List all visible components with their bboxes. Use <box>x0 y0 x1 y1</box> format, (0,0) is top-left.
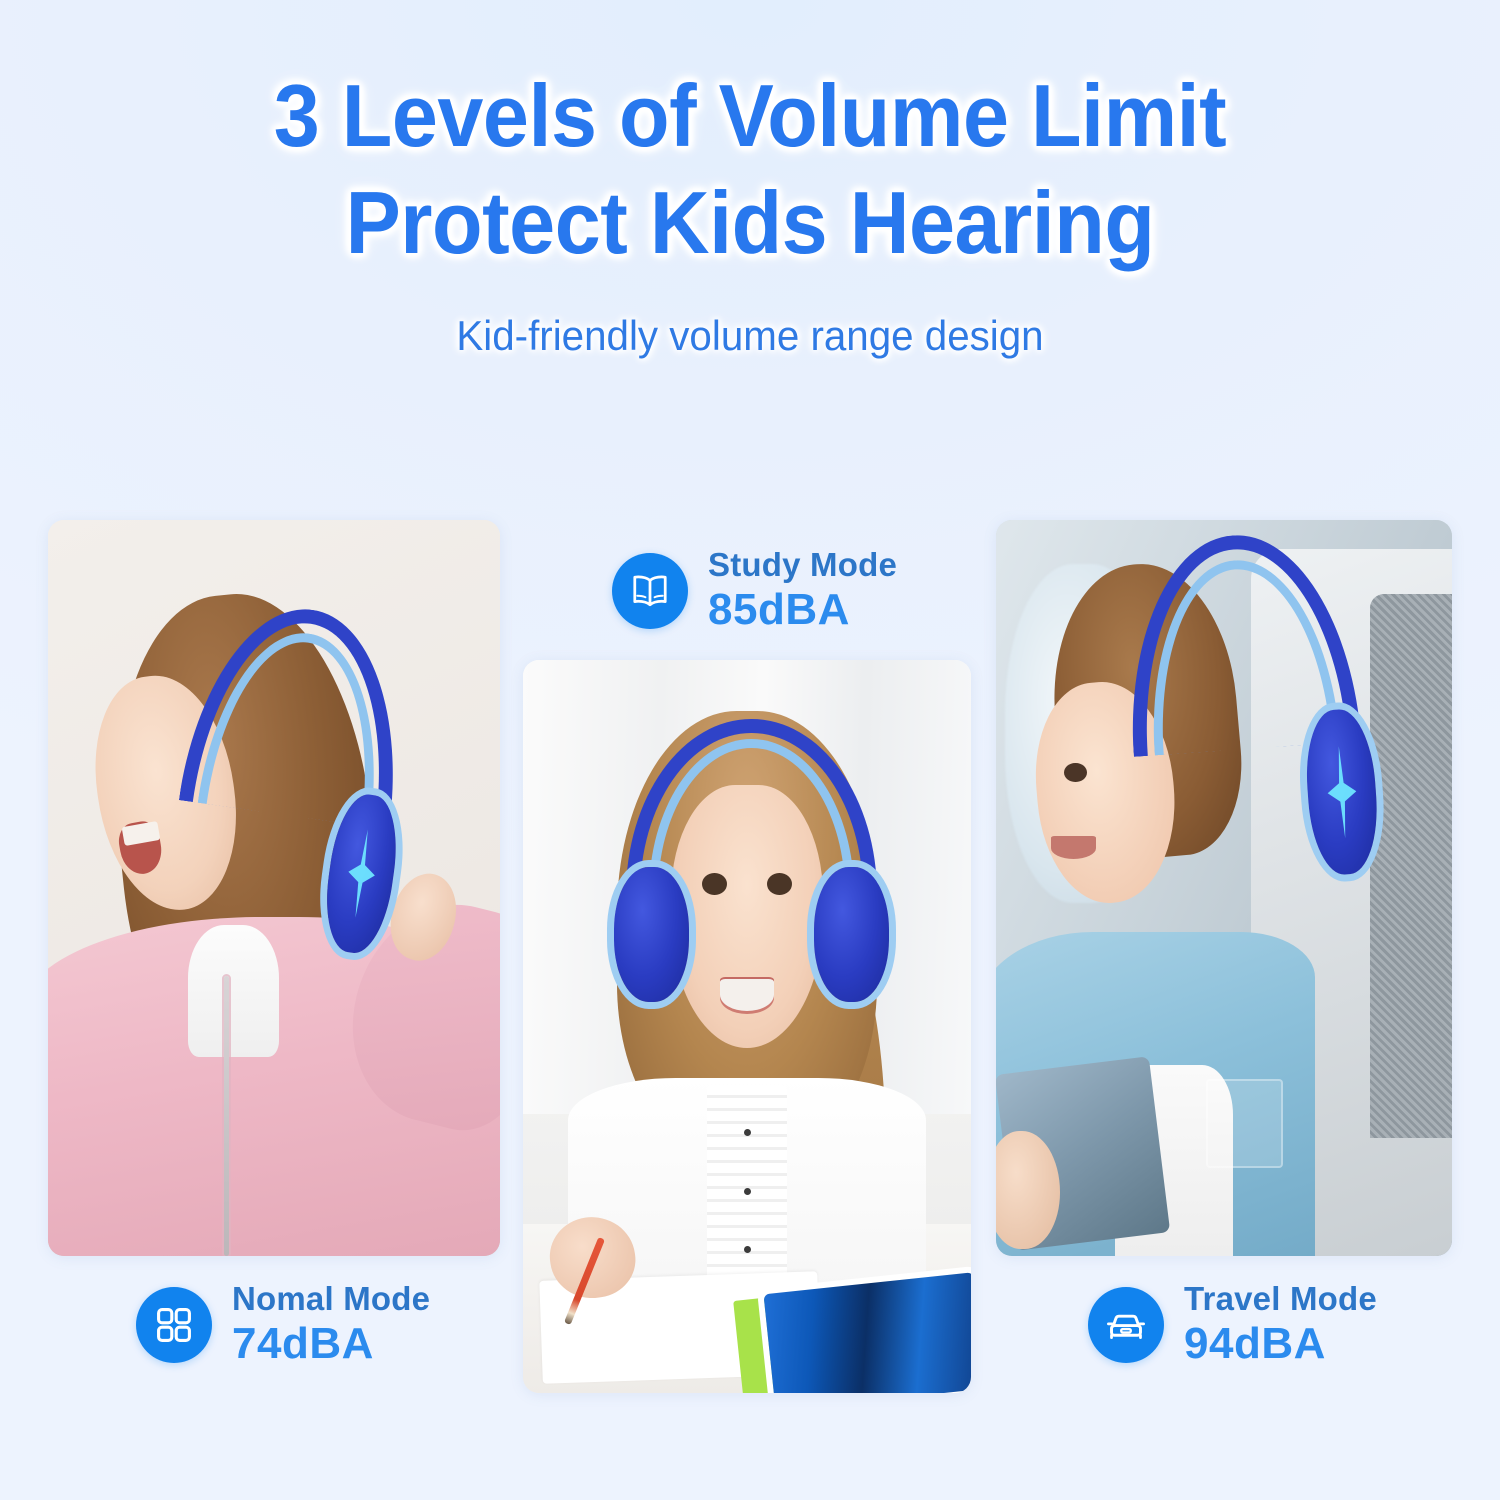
badge-icon-circle <box>1088 1287 1164 1363</box>
ear-cup-left <box>614 867 689 1002</box>
glowing-star-icon <box>342 828 381 920</box>
open-book-icon <box>628 569 672 613</box>
headphones <box>1119 527 1375 954</box>
ear-cup-right <box>814 867 889 1002</box>
button <box>744 1188 751 1195</box>
badge-travel-mode: Travel Mode 94dBA <box>1088 1282 1377 1368</box>
scene-right <box>996 520 1452 1256</box>
car-icon <box>1104 1303 1148 1347</box>
badge-study-mode: Study Mode 85dBA <box>612 548 897 634</box>
mode-label: Study Mode <box>708 548 897 583</box>
smile <box>1051 836 1097 858</box>
scene-left <box>48 520 500 1256</box>
headline-line-2: Protect Kids Hearing <box>45 169 1455 276</box>
scene-center <box>523 660 971 1393</box>
glowing-star-icon <box>1324 745 1359 839</box>
mode-value: 94dBA <box>1184 1321 1377 1368</box>
badge-icon-circle <box>612 553 688 629</box>
badge-texts: Nomal Mode 74dBA <box>232 1282 430 1368</box>
badge-icon-circle <box>136 1287 212 1363</box>
badge-texts: Study Mode 85dBA <box>708 548 897 634</box>
subtitle: Kid-friendly volume range design <box>30 312 1470 360</box>
mode-value: 74dBA <box>232 1321 430 1368</box>
headphones <box>626 719 877 1056</box>
grid-squares-icon <box>152 1303 196 1347</box>
mode-label: Nomal Mode <box>232 1282 430 1317</box>
blue-book <box>764 1272 971 1393</box>
eye <box>1064 763 1087 782</box>
badge-texts: Travel Mode 94dBA <box>1184 1282 1377 1368</box>
hoodie-zipper <box>224 976 229 1256</box>
photo-travel-mode <box>996 520 1452 1256</box>
headline-line-1: 3 Levels of Volume Limit <box>45 62 1455 169</box>
button <box>744 1129 751 1136</box>
marketing-banner: 3 Levels of Volume Limit Protect Kids He… <box>0 0 1500 1500</box>
mode-value: 85dBA <box>708 587 897 634</box>
headline-block: 3 Levels of Volume Limit Protect Kids He… <box>0 62 1500 277</box>
seat-fabric <box>1370 594 1452 1139</box>
photo-study-mode <box>523 660 971 1393</box>
mode-label: Travel Mode <box>1184 1282 1377 1317</box>
shirt-pocket <box>1206 1079 1284 1167</box>
photo-normal-mode <box>48 520 500 1256</box>
badge-normal-mode: Nomal Mode 74dBA <box>136 1282 430 1368</box>
